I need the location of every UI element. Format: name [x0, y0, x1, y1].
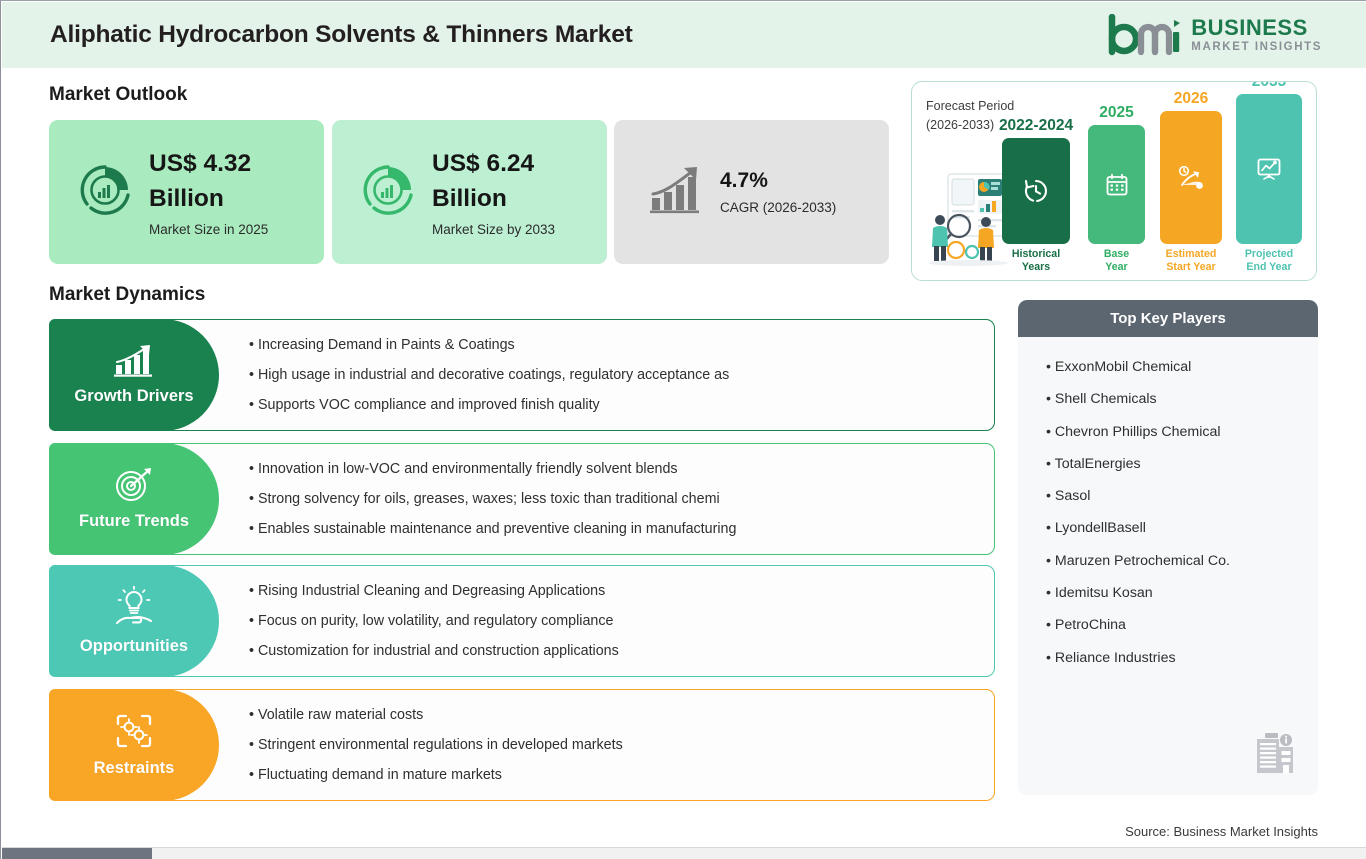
dynamics-bullet: • Strong solvency for oils, greases, wax… [249, 491, 981, 507]
top-key-players-title: Top Key Players [1110, 310, 1226, 327]
dynamics-bullet: • Focus on purity, low volatility, and r… [249, 613, 981, 629]
dynamics-bullet: • Stringent environmental regulations in… [249, 737, 981, 753]
top-key-players-panel: Top Key Players • ExxonMobil Chemical • … [1018, 300, 1318, 795]
forecast-period-panel: Forecast Period (2026-2033) [911, 81, 1317, 281]
dynamics-pill-restraints[interactable]: Restraints [49, 689, 219, 801]
dynamics-bullet: • High usage in industrial and decorativ… [249, 367, 981, 383]
list-item: • Chevron Phillips Chemical [1046, 424, 1318, 440]
dynamics-pill-growth-drivers[interactable]: Growth Drivers [49, 319, 219, 431]
page-title: Aliphatic Hydrocarbon Solvents & Thinner… [50, 21, 633, 49]
forecast-bar-historical: 2022-2024 HistoricalYears [1002, 117, 1070, 274]
team-analytics-illustration [922, 170, 1014, 271]
growth-bar-arrow-icon [648, 164, 706, 221]
bmi-logo-icon [1108, 14, 1182, 56]
list-item: • Sasol [1046, 488, 1318, 504]
dynamics-bullet: • Volatile raw material costs [249, 707, 981, 723]
scrollbar-thumb[interactable] [2, 848, 152, 859]
presentation-chart-icon [1236, 94, 1302, 244]
dynamics-row-growth-drivers: Growth Drivers • Increasing Demand in Pa… [49, 319, 995, 431]
dynamics-bullets: • Rising Industrial Cleaning and Degreas… [249, 565, 981, 677]
forecast-bar-year: 2025 [1099, 104, 1133, 122]
dynamics-pill-label: Restraints [94, 759, 175, 778]
dynamics-pill-label: Future Trends [79, 512, 189, 531]
forecast-bar-caption: ProjectedEnd Year [1245, 248, 1293, 274]
dynamics-pill-opportunities[interactable]: Opportunities [49, 565, 219, 677]
forecast-bar-year: 2033 [1252, 81, 1286, 91]
market-dynamics-heading: Market Dynamics [49, 284, 205, 306]
dynamics-bullet: • Customization for industrial and const… [249, 643, 981, 659]
history-clock-icon [1002, 138, 1070, 244]
list-item: • Shell Chemicals [1046, 391, 1318, 407]
top-key-players-header: Top Key Players [1018, 300, 1318, 337]
top-key-players-list: • ExxonMobil Chemical • Shell Chemicals … [1018, 337, 1318, 666]
horizontal-scrollbar[interactable] [2, 847, 1366, 859]
dynamics-bullet: • Enables sustainable maintenance and pr… [249, 521, 981, 537]
donut-chart-icon [77, 162, 133, 223]
brand-logo: BUSINESS MARKET INSIGHTS [1108, 14, 1322, 56]
logo-line-1: BUSINESS [1191, 17, 1322, 39]
forecast-bar-year: 2022-2024 [999, 117, 1073, 135]
forecast-bar-caption: HistoricalYears [1012, 248, 1060, 274]
forecast-growth-icon [1160, 111, 1222, 244]
dynamics-pill-future-trends[interactable]: Future Trends [49, 443, 219, 555]
market-outlook-heading: Market Outlook [49, 84, 187, 106]
stat-label: Market Size in 2025 [149, 222, 299, 237]
infographic-page: Aliphatic Hydrocarbon Solvents & Thinner… [0, 0, 1366, 859]
forecast-bar-projected: 2033 ProjectedEnd Year [1236, 81, 1302, 274]
dynamics-bullets: • Innovation in low-VOC and environmenta… [249, 443, 981, 555]
donut-chart-icon [360, 162, 416, 223]
dynamics-row-restraints: Restraints • Volatile raw material costs… [49, 689, 995, 801]
list-item: • ExxonMobil Chemical [1046, 359, 1318, 375]
page-header: Aliphatic Hydrocarbon Solvents & Thinner… [2, 2, 1366, 68]
stat-label: Market Size by 2033 [432, 222, 582, 237]
dynamics-bullets: • Volatile raw material costs • Stringen… [249, 689, 981, 801]
stat-card-market-size-2033: US$ 6.24 Billion Market Size by 2033 [332, 120, 607, 264]
forecast-bar-year: 2026 [1174, 90, 1208, 108]
forecast-bar-caption: EstimatedStart Year [1166, 248, 1217, 274]
stat-card-market-size-2025: US$ 4.32 Billion Market Size in 2025 [49, 120, 324, 264]
dynamics-bullet: • Fluctuating demand in mature markets [249, 767, 981, 783]
dynamics-row-opportunities: Opportunities • Rising Industrial Cleani… [49, 565, 995, 677]
forecast-bar-base: 2025 BaseYear [1088, 104, 1145, 274]
list-item: • Reliance Industries [1046, 650, 1318, 666]
dynamics-bullet: • Supports VOC compliance and improved f… [249, 397, 981, 413]
growth-bar-arrow-icon [113, 344, 155, 383]
forecast-bar-estimated: 2026 EstimatedStart Year [1160, 90, 1222, 274]
list-item: • LyondellBasell [1046, 520, 1318, 536]
forecast-bar-caption: BaseYear [1104, 248, 1129, 274]
stat-label: CAGR (2026-2033) [720, 200, 836, 215]
forecast-caption-line-1: Forecast Period [926, 97, 1014, 116]
dynamics-bullets: • Increasing Demand in Paints & Coatings… [249, 319, 981, 431]
dynamics-bullet: • Increasing Demand in Paints & Coatings [249, 337, 981, 353]
list-item: • PetroChina [1046, 617, 1318, 633]
list-item: • Maruzen Petrochemical Co. [1046, 553, 1318, 569]
stat-value: 4.7% [720, 169, 836, 192]
target-dart-icon [114, 467, 154, 508]
source-note: Source: Business Market Insights [1125, 824, 1318, 839]
list-item: • Idemitsu Kosan [1046, 585, 1318, 601]
scan-gear-icon [114, 712, 154, 755]
stat-card-cagr: 4.7% CAGR (2026-2033) [614, 120, 889, 264]
stat-value: US$ 4.32 Billion [149, 147, 299, 217]
dynamics-bullet: • Innovation in low-VOC and environmenta… [249, 461, 981, 477]
list-item: • TotalEnergies [1046, 456, 1318, 472]
dynamics-pill-label: Growth Drivers [74, 387, 193, 406]
lightbulb-hand-icon [113, 586, 155, 633]
dynamics-bullet: • Rising Industrial Cleaning and Degreas… [249, 583, 981, 599]
company-buildings-info-icon [1249, 729, 1297, 782]
stat-value: US$ 6.24 Billion [432, 147, 582, 217]
dynamics-pill-label: Opportunities [80, 637, 188, 656]
dynamics-row-future-trends: Future Trends • Innovation in low-VOC an… [49, 443, 995, 555]
logo-line-2: MARKET INSIGHTS [1191, 42, 1322, 54]
calendar-icon [1088, 125, 1145, 244]
